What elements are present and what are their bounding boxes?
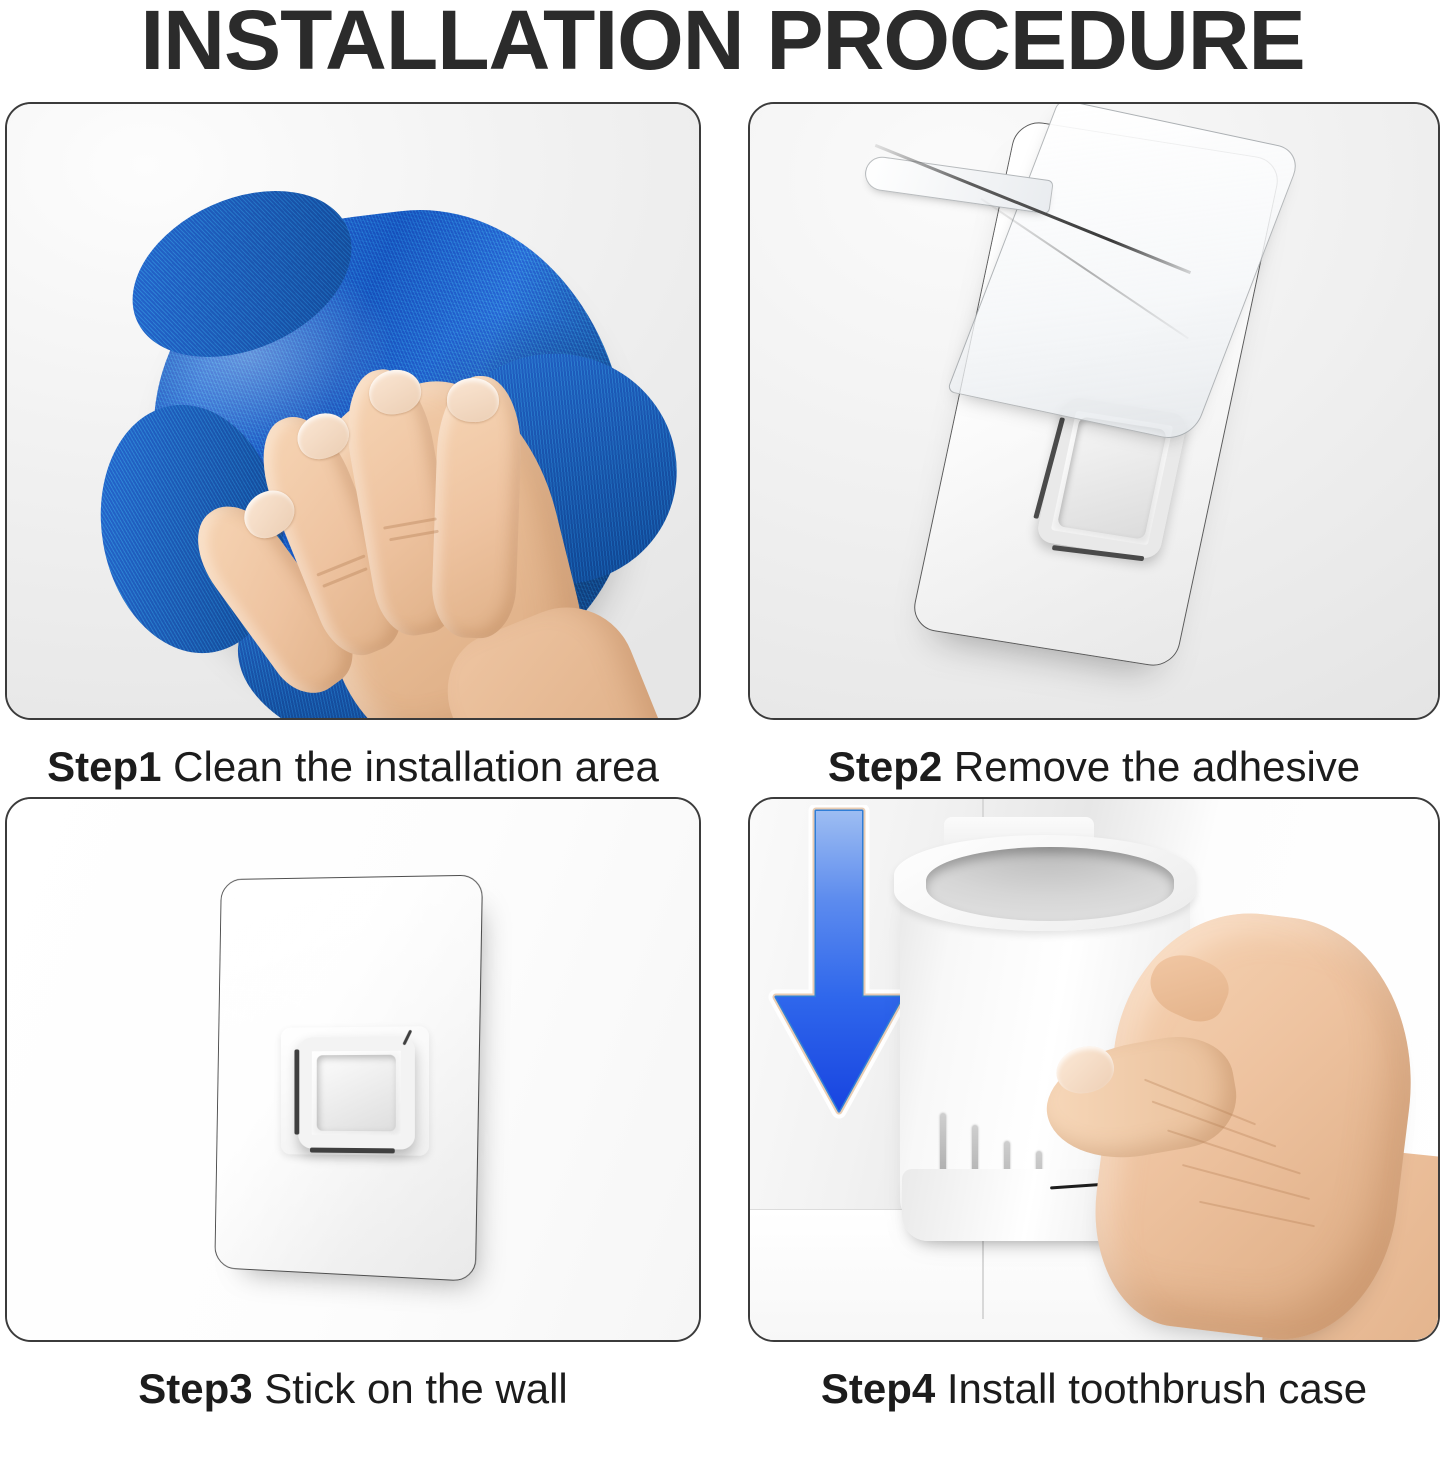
square-hook (298, 1036, 415, 1149)
step-card-2: Step2 Remove the adhesive (748, 102, 1440, 792)
step-2-number: Step2 (828, 743, 942, 790)
hand-illustration (1020, 851, 1440, 1342)
step-card-1: Step1 Clean the installation area (5, 102, 701, 792)
step-1-image-frame (5, 102, 701, 720)
step-3-text: Stick on the wall (253, 1365, 568, 1412)
step-3-caption: Step3 Stick on the wall (5, 1366, 701, 1412)
fingernail-index (446, 377, 500, 423)
hand-illustration (197, 264, 627, 720)
hook-edge-shadow (310, 1148, 395, 1154)
step-2-image-frame (748, 102, 1440, 720)
step-2-text: Remove the adhesive (942, 743, 1360, 790)
step-1-text: Clean the installation area (162, 743, 659, 790)
step-3-image-frame (5, 797, 701, 1342)
step-card-4: Step4 Install toothbrush case (748, 797, 1440, 1414)
step-2-caption: Step2 Remove the adhesive (748, 744, 1440, 790)
hook-edge-shadow (294, 1049, 299, 1134)
down-arrow-icon (764, 805, 914, 1135)
step-4-text: Install toothbrush case (935, 1365, 1367, 1412)
page-title: INSTALLATION PROCEDURE (0, 0, 1445, 84)
steps-grid: Step1 Clean the installation area (0, 100, 1445, 1464)
step-3-number: Step3 (138, 1365, 252, 1412)
hook-inner-face (317, 1055, 396, 1132)
step-4-image-frame (748, 797, 1440, 1342)
step-4-caption: Step4 Install toothbrush case (748, 1366, 1440, 1412)
installation-procedure-infographic: INSTALLATION PROCEDURE (0, 0, 1445, 1464)
step-1-number: Step1 (47, 743, 161, 790)
step-1-caption: Step1 Clean the installation area (5, 744, 701, 790)
step-4-number: Step4 (821, 1365, 935, 1412)
step-card-3: Step3 Stick on the wall (5, 797, 701, 1414)
